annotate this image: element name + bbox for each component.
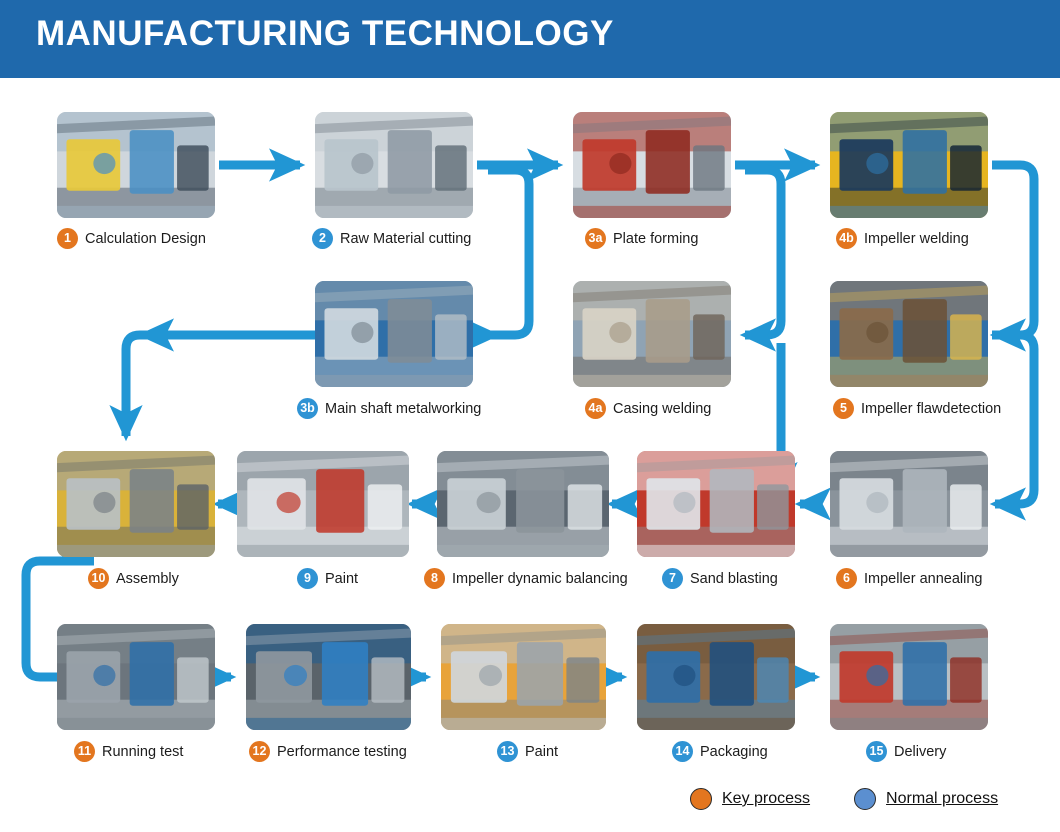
process-photo-9	[237, 451, 409, 557]
step-text-1: Calculation Design	[85, 231, 206, 247]
process-label-3a: 3aPlate forming	[585, 228, 698, 249]
process-label-13: 13Paint	[497, 741, 558, 762]
legend: Key process Normal process	[690, 788, 998, 810]
process-photo-12	[246, 624, 411, 730]
step-text-4b: Impeller welding	[864, 231, 969, 247]
process-label-10: 10Assembly	[88, 568, 179, 589]
process-photo-1	[57, 112, 215, 218]
flowchart-canvas: 1Calculation Design2Raw Material cutting…	[0, 78, 1060, 832]
process-label-2: 2Raw Material cutting	[312, 228, 471, 249]
step-badge-14: 14	[672, 741, 693, 762]
step-text-13: Paint	[525, 744, 558, 760]
step-text-4a: Casing welding	[613, 401, 711, 417]
step-badge-3a: 3a	[585, 228, 606, 249]
process-label-4b: 4bImpeller welding	[836, 228, 969, 249]
process-label-1: 1Calculation Design	[57, 228, 206, 249]
legend-item-normal-process: Normal process	[854, 788, 998, 810]
process-label-5: 5Impeller flawdetection	[833, 398, 1001, 419]
process-photo-14	[637, 624, 795, 730]
step-text-15: Delivery	[894, 744, 946, 760]
page-title: MANUFACTURING TECHNOLOGY	[36, 14, 614, 54]
process-photo-8	[437, 451, 609, 557]
step-badge-2: 2	[312, 228, 333, 249]
step-badge-4b: 4b	[836, 228, 857, 249]
key-process-label: Key process	[722, 790, 810, 808]
process-photo-6	[830, 451, 988, 557]
process-photo-10	[57, 451, 215, 557]
process-label-11: 11Running test	[74, 741, 183, 762]
process-label-3b: 3bMain shaft metalworking	[297, 398, 481, 419]
process-photo-5	[830, 281, 988, 387]
process-label-15: 15Delivery	[866, 741, 946, 762]
step-badge-5: 5	[833, 398, 854, 419]
step-text-11: Running test	[102, 744, 183, 760]
arrow-3b-down-10	[126, 335, 300, 436]
arrow-5-to-6	[992, 335, 1034, 504]
step-text-8: Impeller dynamic balancing	[452, 571, 628, 587]
step-badge-1: 1	[57, 228, 78, 249]
step-text-3a: Plate forming	[613, 231, 698, 247]
step-text-10: Assembly	[116, 571, 179, 587]
arrow-3a-to-4a	[745, 170, 781, 335]
process-photo-7	[637, 451, 795, 557]
step-text-9: Paint	[325, 571, 358, 587]
step-badge-9: 9	[297, 568, 318, 589]
key-process-dot	[690, 788, 712, 810]
step-text-12: Performance testing	[277, 744, 407, 760]
step-badge-3b: 3b	[297, 398, 318, 419]
step-badge-10: 10	[88, 568, 109, 589]
step-badge-6: 6	[836, 568, 857, 589]
page-header: MANUFACTURING TECHNOLOGY	[0, 0, 1060, 78]
step-badge-7: 7	[662, 568, 683, 589]
step-badge-8: 8	[424, 568, 445, 589]
step-text-2: Raw Material cutting	[340, 231, 471, 247]
step-text-5: Impeller flawdetection	[861, 401, 1001, 417]
normal-process-label: Normal process	[886, 790, 998, 808]
process-label-7: 7Sand blasting	[662, 568, 778, 589]
legend-item-key-process: Key process	[690, 788, 810, 810]
process-photo-15	[830, 624, 988, 730]
step-text-6: Impeller annealing	[864, 571, 983, 587]
process-label-14: 14Packaging	[672, 741, 768, 762]
process-photo-4a	[573, 281, 731, 387]
process-label-6: 6Impeller annealing	[836, 568, 983, 589]
process-photo-11	[57, 624, 215, 730]
normal-process-dot	[854, 788, 876, 810]
step-badge-11: 11	[74, 741, 95, 762]
step-text-7: Sand blasting	[690, 571, 778, 587]
process-photo-2	[315, 112, 473, 218]
process-label-12: 12Performance testing	[249, 741, 407, 762]
step-badge-13: 13	[497, 741, 518, 762]
process-label-8: 8Impeller dynamic balancing	[424, 568, 628, 589]
process-photo-4b	[830, 112, 988, 218]
process-label-9: 9Paint	[297, 568, 358, 589]
step-text-14: Packaging	[700, 744, 768, 760]
process-photo-3b	[315, 281, 473, 387]
process-label-4a: 4aCasing welding	[585, 398, 711, 419]
process-photo-13	[441, 624, 606, 730]
process-photo-3a	[573, 112, 731, 218]
step-badge-12: 12	[249, 741, 270, 762]
step-badge-15: 15	[866, 741, 887, 762]
arrow-4b-to-5	[992, 165, 1034, 335]
step-badge-4a: 4a	[585, 398, 606, 419]
step-text-3b: Main shaft metalworking	[325, 401, 481, 417]
